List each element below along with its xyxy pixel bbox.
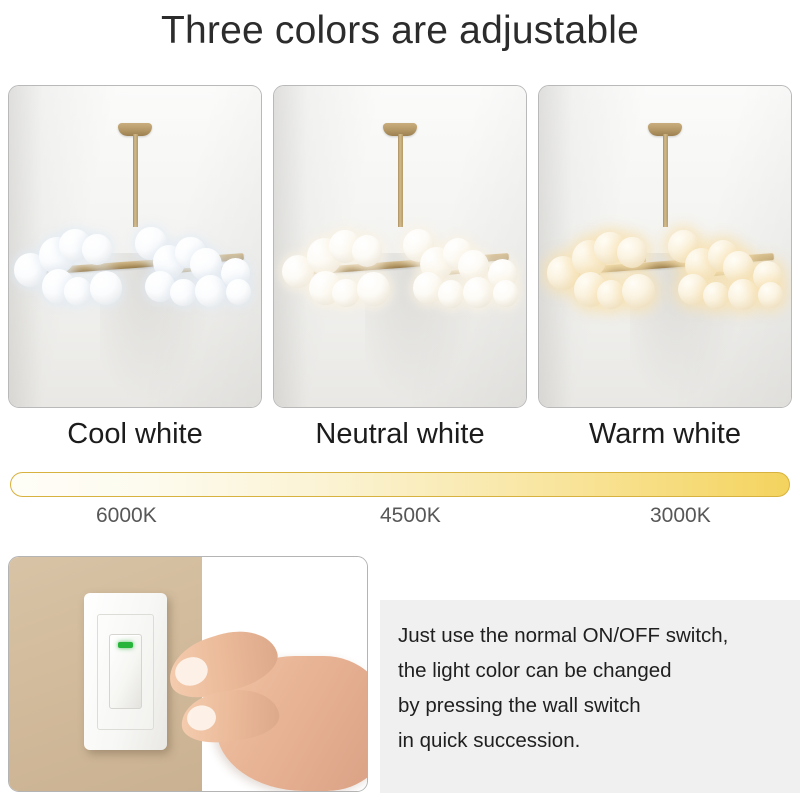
color-temperature-scale-labels: 6000K 4500K 3000K [10, 502, 790, 532]
product-infographic: Three colors are adjustable [0, 0, 800, 800]
instruction-text: Just use the normal ON/OFF switch, the l… [398, 618, 790, 758]
drop-rod [398, 134, 403, 227]
drop-rod [133, 134, 138, 227]
drop-rod [663, 134, 668, 227]
instruction-line-3: by pressing the wall switch [398, 688, 790, 723]
globe-bulb [758, 282, 783, 308]
globe-bulb [703, 282, 729, 310]
globe-bulb [438, 280, 464, 308]
globe-bulb [170, 279, 196, 307]
fingernail [185, 703, 217, 731]
kelvin-label-4500k: 4500K [380, 502, 441, 530]
led-indicator-icon [118, 642, 133, 648]
globe-bulb [332, 279, 360, 308]
wall-switch-photo [8, 556, 368, 792]
color-mode-label-cool-white: Cool white [8, 414, 262, 458]
globe-bulb [357, 272, 390, 306]
color-mode-panel-cool-white[interactable] [8, 85, 262, 408]
switch-plate-inner [97, 614, 155, 730]
globe-bulb [90, 271, 123, 305]
globe-bulb [64, 277, 92, 306]
globe-bulb [493, 280, 518, 306]
kelvin-label-3000k: 3000K [650, 502, 711, 530]
color-mode-panel-neutral-white[interactable] [273, 85, 527, 408]
color-mode-panel-warm-white[interactable] [538, 85, 792, 408]
globe-bulb [352, 235, 382, 266]
switch-wall-plate [84, 593, 166, 750]
color-mode-gallery [8, 85, 792, 408]
color-mode-label-warm-white: Warm white [538, 414, 792, 458]
instruction-line-1: Just use the normal ON/OFF switch, [398, 618, 790, 653]
globe-bulb [195, 275, 225, 306]
hand-illustration [163, 625, 368, 792]
kelvin-label-6000k: 6000K [96, 502, 157, 530]
color-mode-label-neutral-white: Neutral white [273, 414, 527, 458]
color-mode-labels: Cool white Neutral white Warm white [8, 414, 792, 458]
globe-bulb [82, 234, 112, 265]
rocker-switch [109, 634, 142, 709]
chandelier-fixture-warm-white [539, 86, 791, 407]
chandelier-fixture-cool-white [9, 86, 261, 407]
instruction-line-2: the light color can be changed [398, 653, 790, 688]
globe-bulb [728, 279, 758, 310]
globe-bulb [226, 279, 251, 305]
fingernail [171, 653, 211, 690]
instruction-line-4: in quick succession. [398, 723, 790, 758]
chandelier-fixture-neutral-white [274, 86, 526, 407]
page-title: Three colors are adjustable [0, 6, 800, 56]
globe-bulb [622, 274, 655, 308]
color-temperature-gradient-bar [10, 472, 790, 497]
globe-bulb [597, 280, 625, 309]
instruction-panel: Just use the normal ON/OFF switch, the l… [380, 600, 800, 793]
